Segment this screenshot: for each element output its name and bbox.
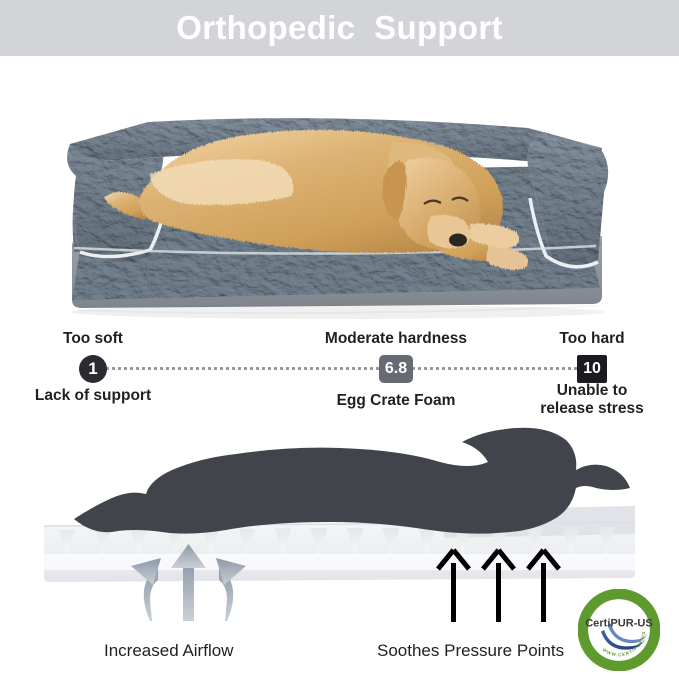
bed-shadow <box>70 305 606 319</box>
airflow-arrow-left <box>131 558 161 621</box>
dog-nose <box>449 234 467 247</box>
scale-label-too-soft: Too soft <box>33 330 153 348</box>
scale-marker-6-8[interactable]: 6.8 <box>379 355 413 383</box>
scale-sublabel-unable-line1: Unable to <box>527 382 657 400</box>
certipur-us-seal: CONTAINS CERTIFIED FLEXIBLE POLYURETHANE… <box>578 589 660 671</box>
scale-sublabel-unable-line2: release stress <box>527 400 657 418</box>
scale-sublabel-lack-of-support: Lack of support <box>13 387 173 405</box>
airflow-arrow-right <box>216 558 246 621</box>
scale-label-too-hard: Too hard <box>532 330 652 348</box>
label-soothes-pressure-points: Soothes Pressure Points <box>377 641 564 661</box>
certipur-us-badge: CONTAINS CERTIFIED FLEXIBLE POLYURETHANE… <box>578 589 660 671</box>
header-banner: Orthopedic Support <box>0 0 679 56</box>
dog-silhouette <box>74 428 630 534</box>
hardness-scale: Too soft Moderate hardness Too hard 1 6.… <box>0 330 679 422</box>
page-title: Orthopedic Support <box>0 3 679 53</box>
label-increased-airflow: Increased Airflow <box>104 641 233 661</box>
badge-wordmark: CertiPUR-US <box>585 618 653 630</box>
scale-sublabel-egg-crate-foam: Egg Crate Foam <box>316 392 476 410</box>
scale-track <box>95 367 595 370</box>
product-photo-illustration <box>0 56 679 322</box>
scale-marker-10[interactable]: 10 <box>577 355 607 383</box>
scale-label-moderate: Moderate hardness <box>316 330 476 348</box>
product-photo <box>0 56 679 322</box>
scale-marker-1[interactable]: 1 <box>79 355 107 383</box>
